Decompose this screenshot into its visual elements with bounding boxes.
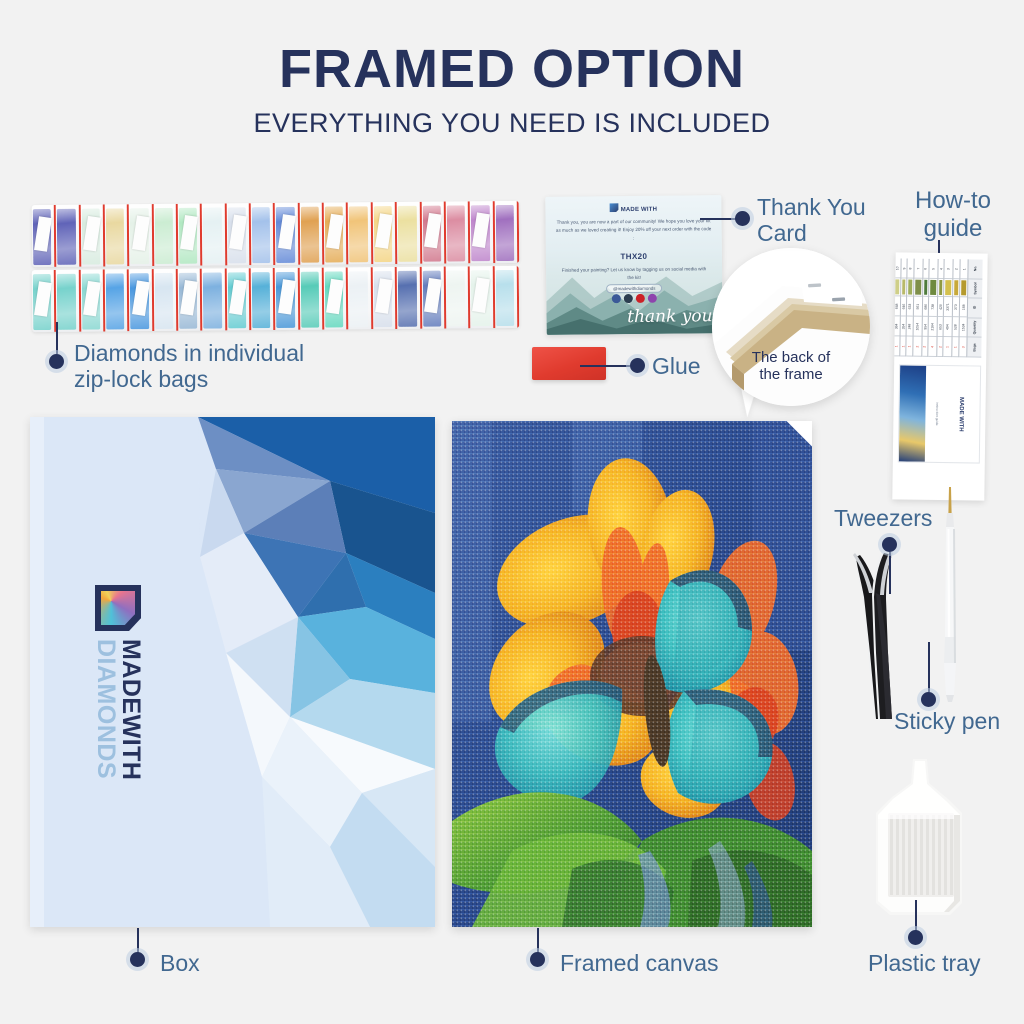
plastic-sheen — [153, 204, 176, 266]
pinterest-icon — [636, 294, 645, 303]
ziplock-bag — [494, 201, 519, 263]
callout-label-sticky-pen: Sticky pen — [894, 708, 1000, 734]
ziplock-bag — [470, 201, 495, 263]
ziplock-bag — [324, 202, 349, 264]
plastic-sheen — [348, 202, 371, 264]
ziplock-bag — [153, 204, 178, 266]
color-swatch-icon — [909, 280, 913, 295]
glue-stick — [532, 347, 606, 380]
ziplock-bag — [300, 203, 325, 265]
callout-label-framed-canvas: Framed canvas — [560, 950, 719, 976]
ziplock-bag — [348, 267, 373, 329]
canvas-diamond-sparkle — [452, 421, 812, 927]
dot-framed-canvas — [530, 952, 545, 967]
leader-glue — [580, 365, 630, 367]
color-chart-header-cell: Quantity — [968, 318, 982, 338]
dot-sticky-pen — [921, 692, 936, 707]
ziplock-bag — [275, 268, 300, 330]
ziplock-bag — [105, 269, 130, 331]
ziplock-bag — [56, 270, 81, 332]
card-social-handle: @madewithdiamonds — [606, 284, 662, 294]
infographic-stage: FRAMED OPTION EVERYTHING YOU NEED IS INC… — [0, 0, 1024, 1024]
ziplock-bag — [373, 202, 398, 264]
framed-canvas — [452, 421, 812, 927]
how-to-guide-sheet: No.SymbolIDQuantityBags11681534323735281… — [892, 252, 987, 500]
plastic-tray — [866, 757, 976, 927]
dot-plastic-tray — [908, 930, 923, 945]
sticky-pen — [938, 487, 962, 702]
ziplock-bag — [32, 270, 57, 332]
card-paragraph-1: Thank you, you are now a part of our com… — [556, 217, 712, 244]
ziplock-bag — [56, 205, 81, 267]
plastic-sheen — [300, 203, 323, 265]
ziplock-bag — [251, 203, 276, 265]
color-chart-header-column: No.SymbolIDQuantityBags — [967, 259, 983, 357]
ziplock-bag — [494, 266, 519, 328]
card-promo-code: THX20 — [546, 251, 722, 262]
guide-brand-panel: instruction guide MADE WITH — [898, 364, 981, 463]
canvas-corner-peel — [786, 421, 812, 447]
ziplock-bag — [397, 202, 422, 264]
plastic-sheen — [56, 205, 79, 267]
card-paragraph-2: Finished your painting? Let us know by t… — [558, 265, 710, 284]
plastic-sheen — [251, 203, 274, 265]
card-brand: MADE WITH — [545, 202, 721, 214]
color-chart-header-cell: ID — [968, 299, 982, 319]
plastic-sheen — [300, 268, 323, 330]
callout-label-plastic-tray: Plastic tray — [868, 950, 980, 976]
callout-label-how-to-guide: How-to guide — [894, 187, 1012, 242]
ziplock-bag — [32, 205, 57, 267]
color-swatch-icon — [930, 280, 936, 295]
ziplock-bag — [421, 202, 446, 264]
frame-closeup-bubble: The back of the frame — [712, 248, 870, 406]
ziplock-bag — [446, 201, 471, 263]
guide-subtitle: instruction guide — [935, 402, 939, 425]
guide-photo-strip — [899, 365, 926, 461]
color-swatch-icon — [895, 279, 899, 294]
dot-tweezers — [882, 537, 897, 552]
ziplock-bag — [129, 204, 154, 266]
plastic-sheen — [56, 270, 79, 332]
guide-brand: MADE WITH — [958, 397, 964, 432]
frame-bubble-label: The back of the frame — [712, 349, 870, 384]
ziplock-bag-row-bottom — [32, 266, 520, 332]
page-subtitle: EVERYTHING YOU NEED IS INCLUDED — [0, 108, 1024, 139]
box-brand-line1: MADEWITH — [118, 639, 143, 780]
leader-plastic-tray — [915, 900, 917, 932]
leader-diamonds — [56, 322, 58, 354]
plastic-sheen — [494, 266, 517, 328]
ziplock-bag — [178, 204, 203, 266]
plastic-tray-shape — [866, 757, 976, 927]
plastic-sheen — [446, 201, 469, 263]
color-swatch-icon — [954, 280, 958, 295]
card-social-icons — [612, 294, 657, 303]
plastic-sheen — [251, 268, 274, 330]
ziplock-bag — [129, 269, 154, 331]
sticky-pen-shape — [938, 487, 962, 702]
color-swatch-icon — [924, 280, 928, 295]
ziplock-bag — [153, 269, 178, 331]
ziplock-bag — [300, 268, 325, 330]
leader-sticky-pen — [928, 642, 930, 692]
plastic-sheen — [348, 267, 371, 329]
plastic-sheen — [105, 204, 128, 266]
color-swatch-icon — [946, 280, 952, 295]
ziplock-bag — [373, 267, 398, 329]
ziplock-bag — [397, 267, 422, 329]
plastic-sheen — [202, 203, 225, 265]
ziplock-bag — [202, 268, 227, 330]
thank-you-card: MADE WITH Thank you, you are now a part … — [545, 195, 722, 335]
tweezers — [852, 533, 912, 723]
diamond-logo-icon — [95, 585, 141, 631]
dot-box — [130, 952, 145, 967]
ziplock-bag — [446, 266, 471, 328]
whatsapp-icon — [624, 294, 633, 303]
tweezers-shape — [852, 533, 912, 723]
leader-tweezers — [889, 552, 891, 594]
instagram-icon — [648, 294, 657, 303]
color-chart-table: No.SymbolIDQuantityBags11681534323735281… — [899, 258, 982, 357]
ziplock-bag — [470, 266, 495, 328]
dot-glue — [630, 358, 645, 373]
page-title: FRAMED OPTION — [0, 38, 1024, 100]
color-chart-header-cell: Symbol — [968, 279, 982, 299]
callout-label-glue: Glue — [652, 353, 701, 379]
ziplock-bag — [275, 203, 300, 265]
ziplock-bag — [80, 269, 105, 331]
plastic-sheen — [446, 266, 469, 328]
color-chart-header-cell: Bags — [968, 338, 982, 358]
leader-thank-you-card — [700, 218, 736, 220]
plastic-sheen — [153, 269, 176, 331]
ziplock-bag — [251, 268, 276, 330]
diamond-logo-icon — [610, 203, 619, 212]
box-brand-logo: MADEWITH DIAMONDS — [88, 585, 148, 815]
plastic-sheen — [397, 267, 420, 329]
ziplock-bag — [226, 203, 251, 265]
ziplock-bag — [226, 268, 251, 330]
box-brand-line2: DIAMONDS — [93, 639, 118, 780]
ziplock-bag-row-top — [32, 201, 520, 267]
callout-label-thank-you-card: Thank You Card — [757, 194, 866, 247]
callout-label-diamonds: Diamonds in individual zip-lock bags — [74, 340, 304, 393]
color-chart-header-cell: No. — [969, 259, 983, 279]
ziplock-bag — [324, 267, 349, 329]
callout-label-box: Box — [160, 950, 200, 976]
ziplock-bag — [202, 203, 227, 265]
facebook-icon — [612, 294, 621, 303]
ziplock-bag — [105, 204, 130, 266]
color-swatch-icon — [915, 280, 921, 295]
ziplock-bag — [80, 204, 105, 266]
color-swatch-icon — [939, 280, 943, 295]
ziplock-bag — [421, 267, 446, 329]
dot-diamonds — [49, 354, 64, 369]
plastic-sheen — [202, 268, 225, 330]
plastic-sheen — [397, 202, 420, 264]
callout-label-tweezers: Tweezers — [834, 505, 932, 531]
dot-thank-you-card — [735, 211, 750, 226]
color-swatch-icon — [961, 280, 967, 295]
color-swatch-icon — [902, 279, 906, 294]
ziplock-bag — [178, 269, 203, 331]
ziplock-bag — [348, 202, 373, 264]
plastic-sheen — [494, 201, 517, 263]
plastic-sheen — [105, 269, 128, 331]
card-thank-you-script: thank you — [627, 310, 713, 327]
